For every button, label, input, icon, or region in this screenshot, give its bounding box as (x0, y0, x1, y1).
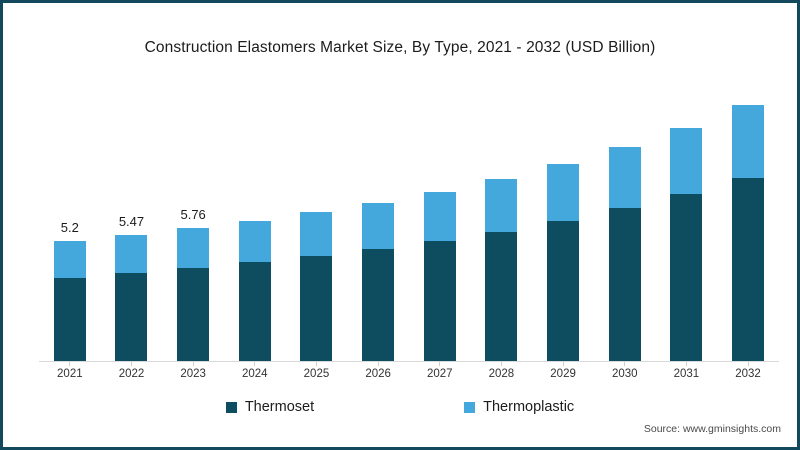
bar-segment-thermoplastic[interactable] (177, 228, 209, 268)
x-axis-label-2025: 2025 (300, 368, 332, 380)
x-axis-tick (193, 361, 194, 366)
chart-legend: ThermosetThermoplastic (3, 399, 797, 415)
chart-figure: Construction Elastomers Market Size, By … (0, 0, 800, 450)
bar-segment-thermoset[interactable] (732, 178, 764, 361)
bar-segment-thermoplastic[interactable] (732, 105, 764, 178)
bar-segment-thermoplastic[interactable] (115, 235, 147, 273)
x-axis-tick (378, 361, 379, 366)
bar-segment-thermoplastic[interactable] (424, 192, 456, 241)
bar-group[interactable]: 5.76 (177, 73, 209, 361)
bar-group[interactable]: 5.47 (115, 73, 147, 361)
x-axis-tick (686, 361, 687, 366)
bar-group[interactable] (670, 73, 702, 361)
x-axis-label-2031: 2031 (670, 368, 702, 380)
bar-value-label: 5.47 (119, 214, 144, 229)
x-axis-tick (439, 361, 440, 366)
legend-item-thermoset[interactable]: Thermoset (226, 399, 314, 415)
bar-group[interactable] (362, 73, 394, 361)
bar-group[interactable]: 5.2 (54, 73, 86, 361)
x-axis-label-2027: 2027 (424, 368, 456, 380)
bar-segment-thermoset[interactable] (424, 241, 456, 361)
bar-segment-thermoplastic[interactable] (547, 164, 579, 221)
legend-swatch-icon (464, 402, 475, 413)
x-axis-label-2022: 2022 (115, 368, 147, 380)
legend-item-thermoplastic[interactable]: Thermoplastic (464, 399, 574, 415)
x-axis-label-2028: 2028 (485, 368, 517, 380)
x-axis-tick (254, 361, 255, 366)
x-axis-tick (563, 361, 564, 366)
bar-segment-thermoplastic[interactable] (239, 221, 271, 262)
x-axis-label-2030: 2030 (609, 368, 641, 380)
bar-segment-thermoplastic[interactable] (54, 241, 86, 277)
x-axis-label-2023: 2023 (177, 368, 209, 380)
legend-label: Thermoset (245, 399, 314, 415)
legend-swatch-icon (226, 402, 237, 413)
bar-segment-thermoset[interactable] (485, 232, 517, 361)
bar-segment-thermoset[interactable] (547, 221, 579, 361)
x-axis-tick (131, 361, 132, 366)
x-axis-ticks (39, 361, 779, 366)
bar-group[interactable] (424, 73, 456, 361)
bar-group[interactable] (732, 73, 764, 361)
x-axis-label-2021: 2021 (54, 368, 86, 380)
bar-group[interactable] (485, 73, 517, 361)
bar-value-label: 5.2 (61, 220, 79, 235)
bar-segment-thermoset[interactable] (670, 194, 702, 361)
bar-segment-thermoset[interactable] (115, 273, 147, 361)
chart-title: Construction Elastomers Market Size, By … (3, 39, 797, 57)
x-axis-tick (624, 361, 625, 366)
bar-group[interactable] (239, 73, 271, 361)
x-axis-label-2026: 2026 (362, 368, 394, 380)
plot-area: 5.25.475.76 (39, 73, 779, 361)
x-axis-label-2024: 2024 (239, 368, 271, 380)
bar-segment-thermoset[interactable] (177, 268, 209, 361)
bar-group[interactable] (609, 73, 641, 361)
x-axis-tick (501, 361, 502, 366)
bar-segment-thermoplastic[interactable] (362, 203, 394, 249)
x-axis-tick (748, 361, 749, 366)
bar-segment-thermoplastic[interactable] (300, 212, 332, 256)
bar-segment-thermoset[interactable] (362, 249, 394, 361)
legend-label: Thermoplastic (483, 399, 574, 415)
x-axis-tick (69, 361, 70, 366)
x-axis-tick (316, 361, 317, 366)
bar-group[interactable] (547, 73, 579, 361)
bar-segment-thermoset[interactable] (609, 208, 641, 361)
bar-segment-thermoset[interactable] (300, 256, 332, 361)
bar-segment-thermoplastic[interactable] (670, 128, 702, 195)
x-axis-label-2032: 2032 (732, 368, 764, 380)
x-axis-label-2029: 2029 (547, 368, 579, 380)
bar-value-label: 5.76 (180, 207, 205, 222)
source-note: Source: www.gminsights.com (644, 423, 781, 435)
bar-segment-thermoplastic[interactable] (485, 179, 517, 232)
bar-series-container: 5.25.475.76 (39, 73, 779, 361)
bar-segment-thermoset[interactable] (239, 262, 271, 361)
bar-segment-thermoset[interactable] (54, 278, 86, 361)
bar-segment-thermoplastic[interactable] (609, 147, 641, 208)
x-axis-labels: 2021202220232024202520262027202820292030… (39, 368, 779, 380)
bar-group[interactable] (300, 73, 332, 361)
